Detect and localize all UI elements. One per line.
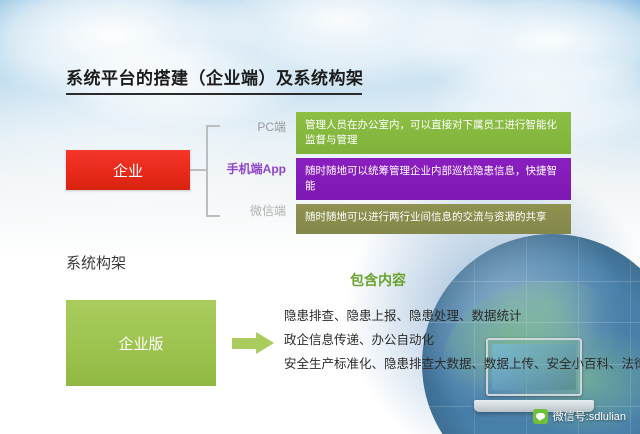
contains-list: 隐患排查、隐患上报、隐患处理、数据统计 政企信息传递、办公自动化 安全生产标准化… <box>284 304 614 376</box>
title-underline <box>66 93 362 95</box>
channel-label-pc: PC端 <box>200 118 286 135</box>
cloud-decoration <box>400 0 640 100</box>
list-item: 政企信息传递、办公自动化 <box>284 328 614 352</box>
channel-desc-pc: 管理人员在办公室内，可以直接对下属员工进行智能化监督与管理 <box>296 112 571 154</box>
contains-title: 包含内容 <box>350 270 406 290</box>
slide-canvas: 系统平台的搭建（企业端）及系统构架 企业 PC端 手机端App 微信端 管理人员… <box>0 0 640 434</box>
channel-desc-app: 随时随地可以统筹管理企业内部巡检隐患信息，快捷智能 <box>296 158 571 200</box>
arrow-right-icon <box>232 332 274 354</box>
framework-box: 企业版 <box>66 300 216 386</box>
wechat-icon <box>533 409 548 424</box>
channel-label-app: 手机端App <box>200 160 286 177</box>
watermark: 微信号:sdlulian <box>533 408 626 424</box>
enterprise-box: 企业 <box>66 150 190 190</box>
watermark-text: 微信号:sdlulian <box>553 408 626 424</box>
page-title: 系统平台的搭建（企业端）及系统构架 <box>66 64 364 89</box>
channel-desc-wechat: 随时随地可以进行两行业间信息的交流与资源的共享 <box>296 204 571 234</box>
channel-label-wechat: 微信端 <box>200 202 286 219</box>
framework-title: 系统构架 <box>66 252 126 273</box>
list-item: 隐患排查、隐患上报、隐患处理、数据统计 <box>284 304 614 328</box>
list-item: 安全生产标准化、隐患排查大数据、数据上传、安全小百科、法律法规文件等 <box>284 352 614 376</box>
